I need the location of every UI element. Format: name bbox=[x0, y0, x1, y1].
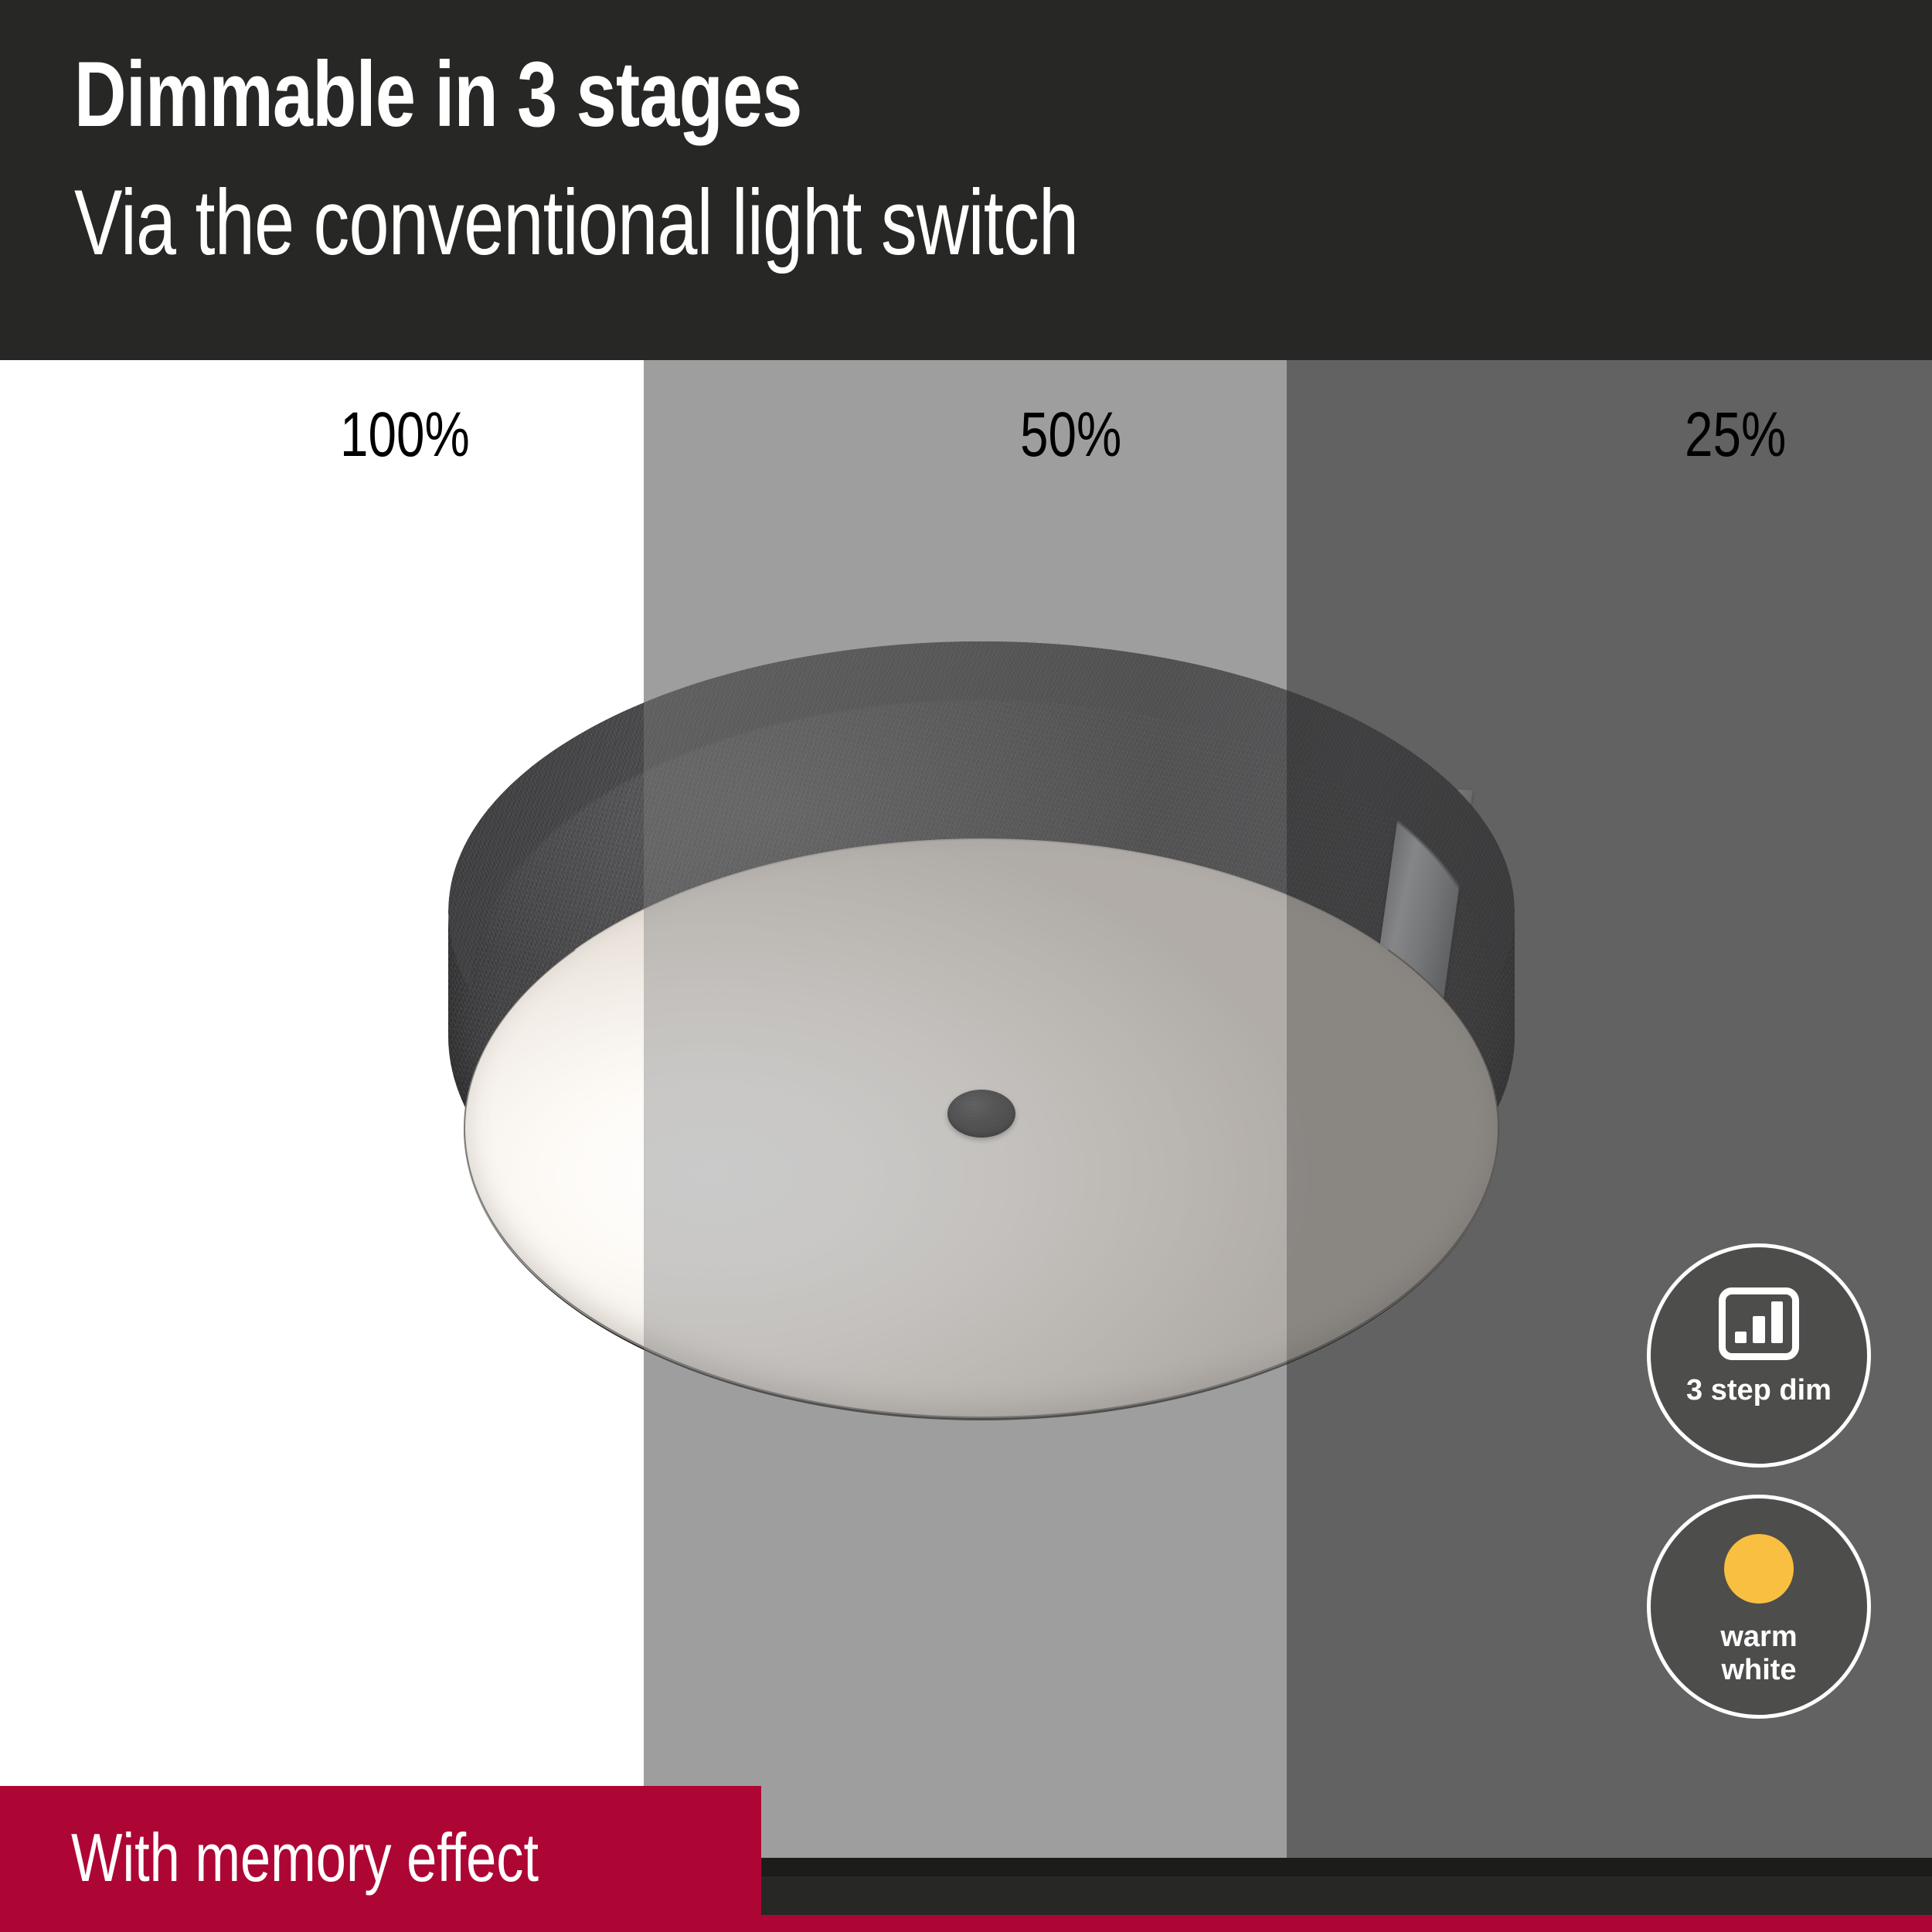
warm-white-dot-icon bbox=[1724, 1534, 1794, 1604]
product-infographic: 100% 50% 25% Dimmable in 3 stages Via th… bbox=[0, 0, 1932, 1932]
badge-label-warm-line1: warm bbox=[1720, 1621, 1797, 1654]
badge-label-3-step-dim: 3 step dim bbox=[1686, 1374, 1832, 1407]
badge-3-step-dim[interactable]: 3 step dim bbox=[1647, 1243, 1871, 1468]
badge-label-warm-line2: white bbox=[1720, 1654, 1797, 1687]
page-title: Dimmable in 3 stages bbox=[74, 48, 802, 141]
footer-dark-strip-upper bbox=[761, 1858, 1932, 1876]
header-banner: Dimmable in 3 stages Via the conventiona… bbox=[0, 0, 1932, 360]
ceiling-lamp-image bbox=[417, 641, 1546, 1430]
lamp-center-cap bbox=[947, 1090, 1015, 1138]
center-cap-texture bbox=[947, 1090, 1015, 1138]
dim-bar-mid bbox=[1753, 1316, 1764, 1343]
badge-warm-white[interactable]: warm white bbox=[1647, 1495, 1871, 1719]
three-bar-dim-icon bbox=[1719, 1287, 1799, 1360]
footer-dark-strip-lower bbox=[761, 1876, 1932, 1915]
footer-red-bar bbox=[0, 1915, 1932, 1932]
dim-bar-low bbox=[1735, 1332, 1747, 1343]
dim-label-50: 50% bbox=[1020, 399, 1121, 471]
dim-label-25: 25% bbox=[1685, 399, 1786, 471]
page-subtitle: Via the conventional light switch bbox=[74, 176, 1078, 269]
dim-bar-high bbox=[1771, 1301, 1783, 1343]
dim-label-100: 100% bbox=[340, 399, 470, 471]
badge-label-warm-white: warm white bbox=[1720, 1621, 1797, 1686]
footer-caption: With memory effect bbox=[71, 1818, 539, 1897]
